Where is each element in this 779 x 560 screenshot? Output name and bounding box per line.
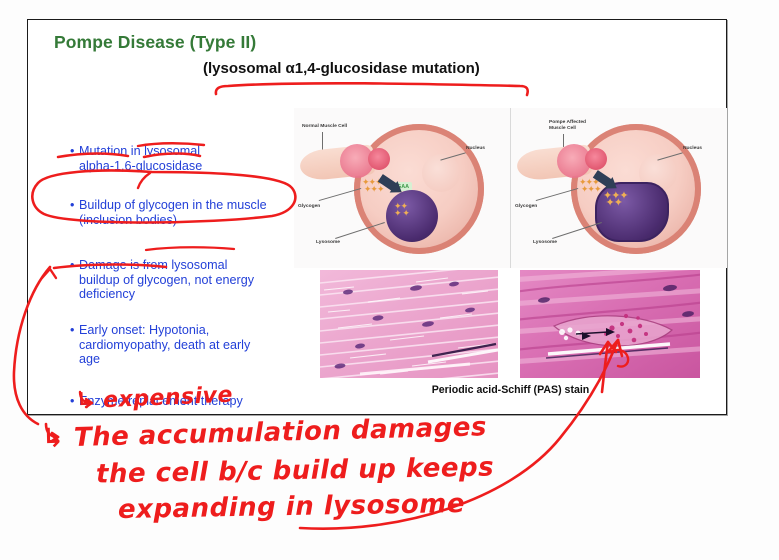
muscle-fiber-cross-section-small <box>585 148 607 170</box>
bullet-marker: • <box>70 144 79 173</box>
diagram-pompe-affected-muscle-cell: Pompe Affected Muscle Cell Nucleus ✦✦✦ ✦… <box>510 108 727 268</box>
diagram-label-glycogen: Glycogen <box>515 204 537 210</box>
bullet-marker: • <box>70 198 79 227</box>
glycogen-in-lysosome: ✦✦ ✦ ✦ <box>394 204 409 218</box>
figure-panel: Normal Muscle Cell Nucleus ✦✦✦ ✦✦✦ Glyco… <box>294 108 727 398</box>
histology-image-pompe <box>520 270 700 378</box>
glycogen-granules: ✦✦✦ ✦✦✦ <box>579 180 600 194</box>
micrograph-pompe <box>520 270 700 378</box>
list-item: • Damage is from lysosomal buildup of gl… <box>70 258 254 302</box>
glycogen-in-lysosome: ✦✦✦ ✦✦ <box>603 192 628 206</box>
cell-diagram-row: Normal Muscle Cell Nucleus ✦✦✦ ✦✦✦ Glyco… <box>294 108 727 268</box>
micrograph-normal <box>320 270 498 378</box>
diagram-title-normal: Normal Muscle Cell <box>302 124 347 130</box>
page-title: Pompe Disease (Type II) <box>54 32 256 53</box>
diagram-normal-muscle-cell: Normal Muscle Cell Nucleus ✦✦✦ ✦✦✦ Glyco… <box>294 108 510 268</box>
handwriting-note-line-1: ↳ The accumulation damages <box>42 412 488 454</box>
diagram-title-pompe: Pompe Affected Muscle Cell <box>549 120 586 132</box>
diagram-label-glycogen: Glycogen <box>298 204 320 210</box>
diagram-label-lysosome: Lysosome <box>316 240 340 246</box>
slide-canvas: Pompe Disease (Type II) (lysosomal α1,4-… <box>27 19 727 415</box>
handwriting-note-line-2: the cell b/c build up keeps <box>96 453 495 490</box>
histology-image-normal <box>320 270 498 378</box>
diagram-label-nucleus: Nucleus <box>466 146 485 152</box>
bullet-text: Early onset: Hypotonia, cardiomyopathy, … <box>79 323 250 367</box>
figure-caption: Periodic acid-Schiff (PAS) stain <box>294 384 727 396</box>
list-item: • Early onset: Hypotonia, cardiomyopathy… <box>70 323 250 367</box>
bullet-text: Damage is from lysosomal buildup of glyc… <box>79 258 254 302</box>
handwriting-note-line-3: expanding in lysosome <box>118 489 465 525</box>
bullet-marker: • <box>70 323 79 367</box>
list-item: • Buildup of glycogen in the muscle (inc… <box>70 198 267 227</box>
histology-row <box>294 270 727 378</box>
diagram-label-nucleus: Nucleus <box>683 146 702 152</box>
list-item: • Mutation in lysosomal alpha-1,6-glucos… <box>70 144 202 173</box>
bullet-text: Buildup of glycogen in the muscle (inclu… <box>79 198 267 227</box>
muscle-fiber-cross-section-small <box>368 148 390 170</box>
page-subtitle: (lysosomal α1,4-glucosidase mutation) <box>203 60 480 77</box>
diagram-label-lysosome: Lysosome <box>533 240 557 246</box>
bullet-marker: • <box>70 258 79 302</box>
bullet-text: Mutation in lysosomal alpha-1,6-glucosid… <box>79 144 202 173</box>
